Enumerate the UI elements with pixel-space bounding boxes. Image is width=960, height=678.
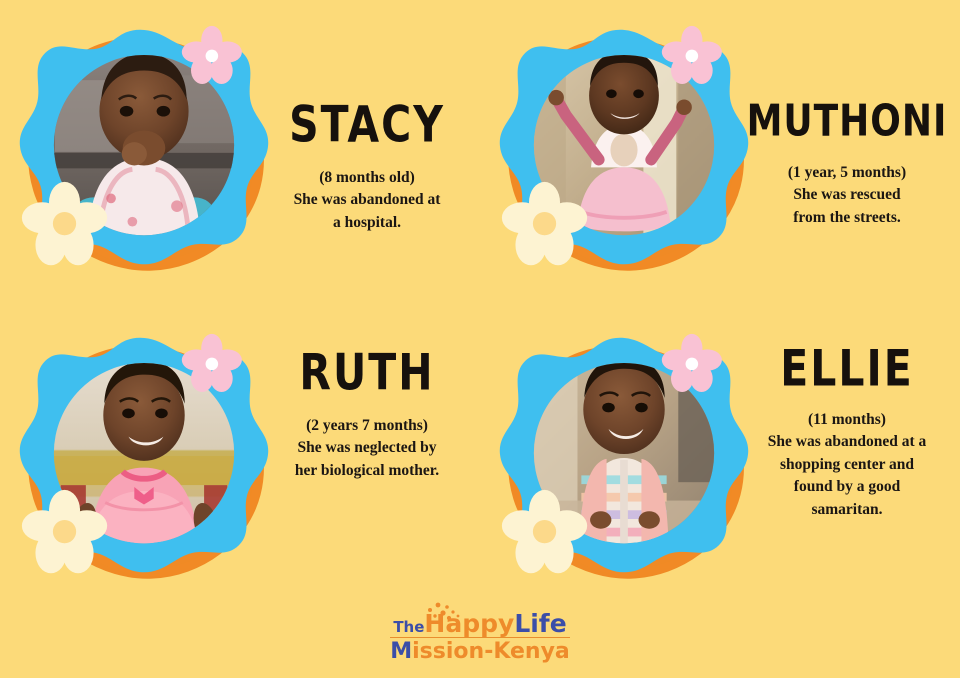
child-age: (8 months old) [262,167,472,189]
text-column-muthoni: MUTHONI (1 year, 5 months) She was rescu… [736,8,958,308]
child-description-muthoni: (1 year, 5 months) She was rescued from … [736,162,958,229]
child-card-ellie: ELLIE (11 months) She was abandoned at a… [480,316,960,616]
photo-frame-ellie [498,326,750,586]
logo-mission-initial: M [390,639,412,664]
text-column-stacy: STACY (8 months old) She was abandoned a… [262,8,472,308]
child-story-line: found by a good [736,476,958,498]
poster-canvas: STACY (8 months old) She was abandoned a… [0,0,960,678]
photo-frame-ruth [18,326,270,586]
child-card-stacy: STACY (8 months old) She was abandoned a… [0,8,480,308]
child-story-line: She was rescued [736,184,958,206]
child-description-ellie: (11 months) She was abandoned at a shopp… [736,409,958,521]
child-age: (1 year, 5 months) [736,162,958,184]
child-age: (2 years 7 months) [262,415,472,437]
child-story-line: a hospital. [262,212,472,234]
child-story-line: She was abandoned at [262,189,472,211]
child-card-muthoni: MUTHONI (1 year, 5 months) She was rescu… [480,8,960,308]
photo-frame-stacy [18,18,270,278]
child-description-stacy: (8 months old) She was abandoned at a ho… [262,167,472,234]
child-name-ruth: RUTH [262,348,472,398]
child-card-ruth: RUTH (2 years 7 months) She was neglecte… [0,316,480,616]
text-column-ruth: RUTH (2 years 7 months) She was neglecte… [262,316,472,616]
child-story-line: She was abandoned at a [736,431,958,453]
child-name-muthoni: MUTHONI [736,100,958,144]
child-story-line: shopping center and [736,454,958,476]
organization-logo: TheHappyLife Mission-Kenya [0,611,960,664]
child-age: (11 months) [736,409,958,431]
confetti-dots-icon [416,602,464,622]
logo-line-two: Mission-Kenya [390,639,570,664]
child-story-line: her biological mother. [262,460,472,482]
child-story-line: samaritan. [736,499,958,521]
child-name-ellie: ELLIE [736,344,958,394]
child-story-line: She was neglected by [262,437,472,459]
child-description-ruth: (2 years 7 months) She was neglected by … [262,415,472,482]
logo-life: Life [514,609,566,638]
child-name-stacy: STACY [262,100,472,150]
photo-frame-muthoni [498,18,750,278]
logo-mission-rest: ission-Kenya [412,639,570,664]
child-story-line: from the streets. [736,207,958,229]
text-column-ellie: ELLIE (11 months) She was abandoned at a… [736,316,958,616]
